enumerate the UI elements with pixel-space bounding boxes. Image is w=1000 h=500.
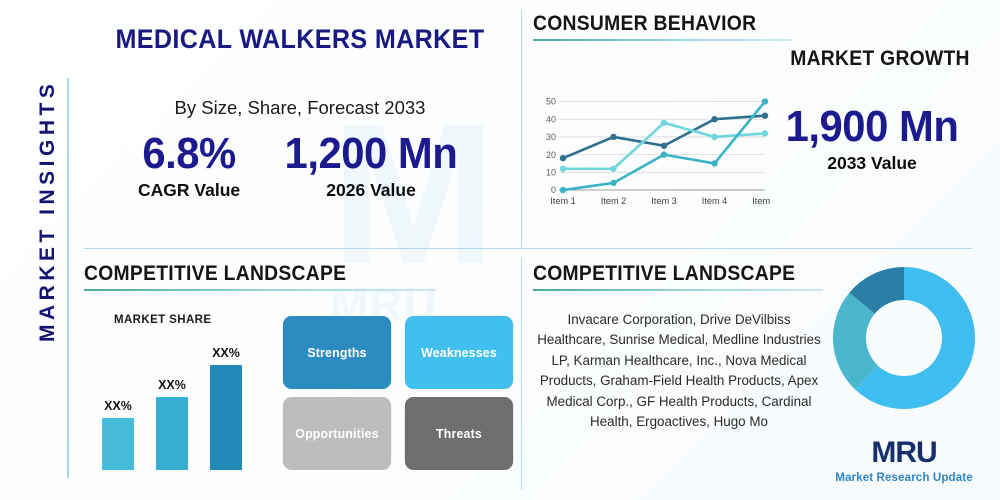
- swot-cell-strengths[interactable]: Strengths: [283, 316, 391, 389]
- page-title: MEDICAL WALKERS MARKET: [99, 24, 501, 55]
- infographic-canvas: M MRU MARKET INSIGHTS MEDICAL WALKERS MA…: [0, 0, 1000, 500]
- svg-text:Item 3: Item 3: [651, 196, 677, 206]
- vertical-divider-bottom: [521, 258, 522, 490]
- svg-text:20: 20: [546, 150, 556, 160]
- brand-logo: MRU Market Research Update: [824, 438, 984, 484]
- line-chart-svg: 01020304050Item 1Item 2Item 3Item 4Item …: [533, 90, 771, 220]
- heading-consumer-behavior: CONSUMER BEHAVIOR: [533, 12, 770, 36]
- donut-chart-svg: [830, 264, 978, 412]
- swot-cell-opportunities[interactable]: Opportunities: [283, 397, 391, 470]
- svg-text:Item 5: Item 5: [752, 196, 771, 206]
- stat-forecast-value: 1,900 Mn: [768, 104, 977, 151]
- svg-text:Item 4: Item 4: [702, 196, 728, 206]
- stat-base-year-label: 2026 Value: [280, 180, 462, 201]
- logo-mark-text: MR: [871, 438, 916, 468]
- panel-competitive-landscape-swot: COMPETITIVE LANDSCAPE MARKET SHARE XX%XX…: [84, 262, 516, 490]
- bar: [102, 418, 134, 470]
- company-list: Invacare Corporation, Drive DeVilbiss He…: [535, 310, 823, 432]
- svg-text:Item 2: Item 2: [601, 196, 627, 206]
- bar: [210, 365, 242, 470]
- svg-text:Item 1: Item 1: [550, 196, 576, 206]
- bar-value-label: XX%: [158, 378, 186, 392]
- svg-text:40: 40: [546, 114, 556, 124]
- svg-text:0: 0: [551, 185, 556, 195]
- bar-column: XX%: [102, 399, 134, 470]
- bar-column: XX%: [156, 378, 188, 470]
- stat-forecast-label: 2033 Value: [762, 153, 982, 174]
- headline-stats-row: 6.8% CAGR Value 1,200 Mn 2026 Value: [84, 131, 516, 201]
- heading-competitive-landscape-right: COMPETITIVE LANDSCAPE: [533, 262, 800, 286]
- heading-market-growth: MARKET GROWTH: [551, 47, 970, 71]
- panel-market-overview: MEDICAL WALKERS MARKET By Size, Share, F…: [84, 12, 516, 244]
- bar-value-label: XX%: [212, 346, 240, 360]
- bar-value-label: XX%: [104, 399, 132, 413]
- svg-text:30: 30: [546, 132, 556, 142]
- horizontal-divider: [84, 248, 972, 249]
- swot-grid: StrengthsWeaknessesOpportunitiesThreats: [280, 316, 516, 470]
- swot-cell-threats[interactable]: Threats: [405, 397, 513, 470]
- svg-text:50: 50: [546, 97, 556, 107]
- bar-chart-bars: XX%XX%XX%: [88, 338, 278, 470]
- logo-tagline: Market Research Update: [824, 471, 984, 484]
- line-chart: 01020304050Item 1Item 2Item 3Item 4Item …: [533, 90, 771, 220]
- vertical-divider-top: [521, 10, 522, 248]
- panel-competitive-landscape-companies: COMPETITIVE LANDSCAPE Invacare Corporati…: [533, 262, 988, 490]
- bar-chart: MARKET SHARE XX%XX%XX%: [88, 314, 278, 470]
- market-insights-side-label: MARKET INSIGHTS: [36, 82, 60, 342]
- heading-underline: [533, 39, 791, 41]
- bar: [156, 397, 188, 470]
- bar-column: XX%: [210, 346, 242, 470]
- stat-base-year-value: 1,200 Mn: [285, 131, 458, 178]
- stat-cagr-value: 6.8%: [141, 131, 238, 178]
- donut-chart-area: MRU Market Research Update: [824, 262, 984, 490]
- stat-forecast-year: 1,900 Mn 2033 Value: [762, 104, 982, 174]
- page-subtitle: By Size, Share, Forecast 2033: [84, 97, 516, 119]
- heading-competitive-landscape-left: COMPETITIVE LANDSCAPE: [84, 262, 408, 286]
- panel-consumer-behavior: CONSUMER BEHAVIOR MARKET GROWTH 01020304…: [533, 12, 988, 244]
- logo-mark-accent: U: [916, 438, 937, 468]
- svg-text:10: 10: [546, 168, 556, 178]
- stat-cagr: 6.8% CAGR Value: [138, 131, 240, 201]
- bar-chart-title: MARKET SHARE: [114, 314, 211, 326]
- left-rail-divider: [67, 78, 69, 478]
- heading-underline-right: [533, 289, 823, 291]
- swot-cell-weaknesses[interactable]: Weaknesses: [405, 316, 513, 389]
- heading-underline-left: [84, 289, 436, 291]
- stat-cagr-label: CAGR Value: [138, 180, 240, 201]
- stat-base-year: 1,200 Mn 2026 Value: [280, 131, 462, 201]
